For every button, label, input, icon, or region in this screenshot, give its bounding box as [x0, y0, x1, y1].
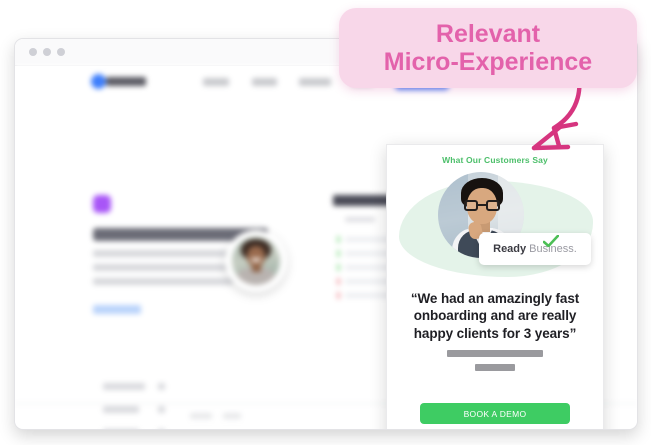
hero-badge-icon — [93, 195, 111, 213]
nav-item-1[interactable] — [203, 78, 229, 86]
right-panel-accent-2 — [337, 250, 340, 257]
nav-item-3[interactable] — [299, 78, 331, 86]
attribution-placeholder-1 — [447, 350, 543, 357]
sidebar-list-count-2 — [158, 406, 165, 413]
hero-body-line-3 — [93, 278, 233, 285]
right-panel-label — [345, 217, 375, 222]
table-header-2 — [223, 413, 241, 419]
right-panel-accent-5 — [337, 292, 340, 299]
sidebar-list-count-3 — [158, 429, 165, 430]
nav-item-2[interactable] — [252, 78, 277, 86]
attribution-placeholder-2 — [475, 364, 515, 371]
right-panel-accent-1 — [337, 236, 340, 243]
site-logo-icon[interactable] — [91, 74, 106, 89]
right-panel-accent-4 — [337, 278, 340, 285]
sidebar-list-count-1 — [158, 383, 165, 390]
sidebar-list-row-1[interactable] — [103, 383, 145, 390]
right-panel-accent-3 — [337, 264, 340, 271]
badge-name-strong: Ready — [493, 243, 526, 255]
customer-quote: “We had an amazingly fast onboarding and… — [399, 290, 591, 342]
check-icon — [543, 235, 559, 247]
sidebar-list-row-2[interactable] — [103, 406, 139, 413]
table-header-1 — [190, 413, 212, 419]
micro-experience-popup: What Our Customers Say Ready Busin — [386, 144, 604, 430]
sidebar-list-row-3[interactable] — [103, 429, 139, 430]
maximize-dot[interactable] — [57, 48, 65, 56]
callout-line-1: Relevant — [436, 20, 540, 49]
site-logo-wordmark — [106, 77, 146, 86]
popup-eyebrow: What Our Customers Say — [387, 155, 603, 165]
window-traffic-lights — [29, 48, 65, 56]
callout-line-2: Micro-Experience — [384, 48, 592, 77]
company-badge: Ready Business. — [479, 233, 591, 265]
close-dot[interactable] — [29, 48, 37, 56]
browser-window: What Our Customers Say Ready Busin — [14, 38, 638, 430]
minimize-dot[interactable] — [43, 48, 51, 56]
hero-avatar-photo — [232, 237, 280, 285]
hero-link-placeholder[interactable] — [93, 305, 141, 314]
book-a-demo-button[interactable]: BOOK A DEMO — [420, 403, 570, 424]
annotation-callout: Relevant Micro-Experience — [339, 8, 637, 88]
hero-avatar — [225, 230, 287, 292]
screenshot-stage: What Our Customers Say Ready Busin — [0, 0, 651, 445]
